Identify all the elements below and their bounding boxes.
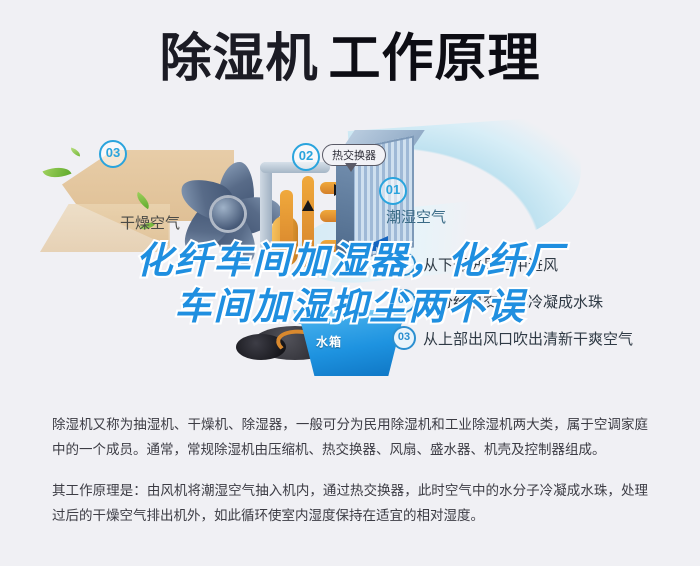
dehumidifier-diagram: 水箱 03 02 01 热交换器 干燥空气 潮湿空气 01 从下部进风口中进风 … [0, 118, 700, 398]
flow-arrow-up-icon [302, 200, 314, 211]
body-copy: 除湿机又称为抽湿机、干燥机、除湿器，一般可分为民用除湿机和工业除湿机两大类，属于… [0, 412, 700, 528]
coil-segment [280, 190, 293, 266]
infographic-page: 除湿机工作原理 [0, 0, 700, 566]
paragraph-2: 其工作原理是：由风机将潮湿空气抽入机内，通过热交换器，此时空气中的水分子冷凝成水… [0, 478, 700, 528]
humid-air-label: 潮湿空气 [386, 206, 446, 227]
step-number: 02 [392, 289, 416, 313]
dry-air-label: 干燥空气 [120, 212, 180, 233]
badge-01: 01 [379, 177, 407, 205]
step-text: 水分经热交换器冷凝成水珠 [423, 291, 603, 312]
water-tank-icon [292, 314, 404, 376]
step-text: 从下部进风口中进风 [423, 254, 558, 275]
title-part-2: 工作原理 [329, 30, 541, 88]
steps-list: 01 从下部进风口中进风 02 水分经热交换器冷凝成水珠 03 从上部出风口吹出… [392, 252, 692, 363]
leaf-icon [69, 147, 81, 156]
step-item: 03 从上部出风口吹出清新干爽空气 [392, 326, 692, 350]
water-tank-label: 水箱 [316, 333, 342, 350]
leaf-icon [43, 162, 72, 184]
step-number: 01 [392, 252, 416, 276]
paragraph-1: 除湿机又称为抽湿机、干燥机、除湿器，一般可分为民用除湿机和工业除湿机两大类，属于… [0, 412, 700, 462]
step-item: 01 从下部进风口中进风 [392, 252, 692, 276]
step-text: 从上部出风口吹出清新干爽空气 [423, 328, 633, 349]
step-number: 03 [392, 326, 416, 350]
badge-02: 02 [292, 143, 320, 171]
coil-segment [302, 176, 314, 268]
badge-03: 03 [99, 140, 127, 168]
heat-exchanger-callout: 热交换器 [322, 144, 386, 166]
fan-hub [212, 198, 244, 230]
title-part-1: 除湿机 [159, 30, 318, 88]
pipe [260, 162, 272, 262]
step-item: 02 水分经热交换器冷凝成水珠 [392, 289, 692, 313]
intake-arrow-icon [330, 236, 388, 252]
page-title: 除湿机工作原理 [0, 30, 700, 88]
